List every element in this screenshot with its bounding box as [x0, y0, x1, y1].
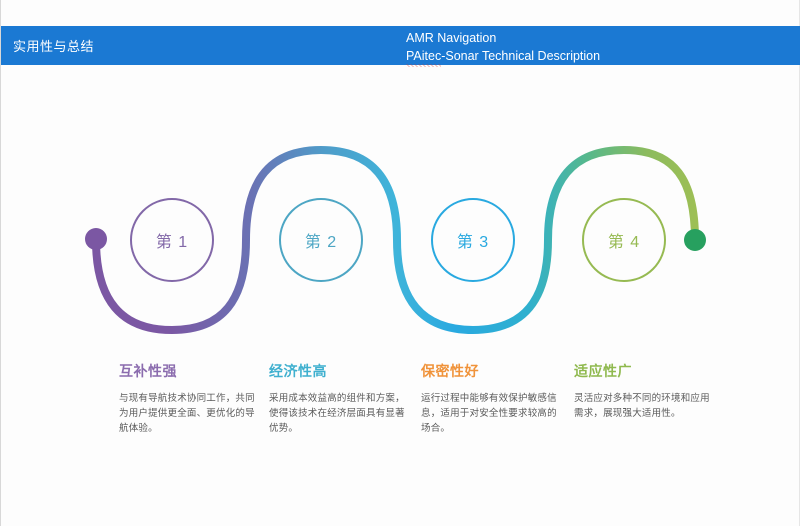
step-ring-3[interactable] — [432, 199, 514, 281]
page-title: 实用性与总结 — [13, 36, 94, 55]
feature-title-3: 保密性好 — [421, 362, 561, 380]
end-dot — [684, 229, 706, 251]
feature-body-2: 采用成本效益高的组件和方案，使得该技术在经济层面具有显著优势。 — [269, 391, 409, 436]
header-subtitle: AMR Navigation PAitec-Sonar Technical De… — [406, 29, 786, 67]
misspelling-underline: PAitec — [406, 47, 441, 67]
header-subtitle-line1: AMR Navigation — [406, 29, 786, 47]
start-dot — [85, 228, 107, 250]
feature-body-4: 灵活应对多种不同的环境和应用需求，展现强大适用性。 — [574, 391, 714, 421]
feature-column-4: 适应性广 灵活应对多种不同的环境和应用需求，展现强大适用性。 — [574, 362, 714, 421]
slide-canvas: 实用性与总结 AMR Navigation PAitec-Sonar Techn… — [0, 0, 800, 526]
feature-title-1: 互补性强 — [119, 362, 259, 380]
feature-body-3: 运行过程中能够有效保护敏感信息，适用于对安全性要求较高的场合。 — [421, 391, 561, 436]
feature-title-4: 适应性广 — [574, 362, 714, 380]
header-subtitle-line2-rest: -Sonar Technical Description — [441, 49, 600, 63]
step-ring-2[interactable] — [280, 199, 362, 281]
feature-title-2: 经济性高 — [269, 362, 409, 380]
step-ring-4[interactable] — [583, 199, 665, 281]
feature-body-1: 与现有导航技术协同工作，共同为用户提供更全面、更优化的导航体验。 — [119, 391, 259, 436]
feature-column-1: 互补性强 与现有导航技术协同工作，共同为用户提供更全面、更优化的导航体验。 — [119, 362, 259, 436]
header-subtitle-line2: PAitec-Sonar Technical Description — [406, 47, 600, 67]
timeline-wave-graphic — [1, 140, 800, 340]
step-ring-1[interactable] — [131, 199, 213, 281]
feature-column-2: 经济性高 采用成本效益高的组件和方案，使得该技术在经济层面具有显著优势。 — [269, 362, 409, 436]
feature-column-3: 保密性好 运行过程中能够有效保护敏感信息，适用于对安全性要求较高的场合。 — [421, 362, 561, 436]
wave-path — [96, 150, 695, 330]
